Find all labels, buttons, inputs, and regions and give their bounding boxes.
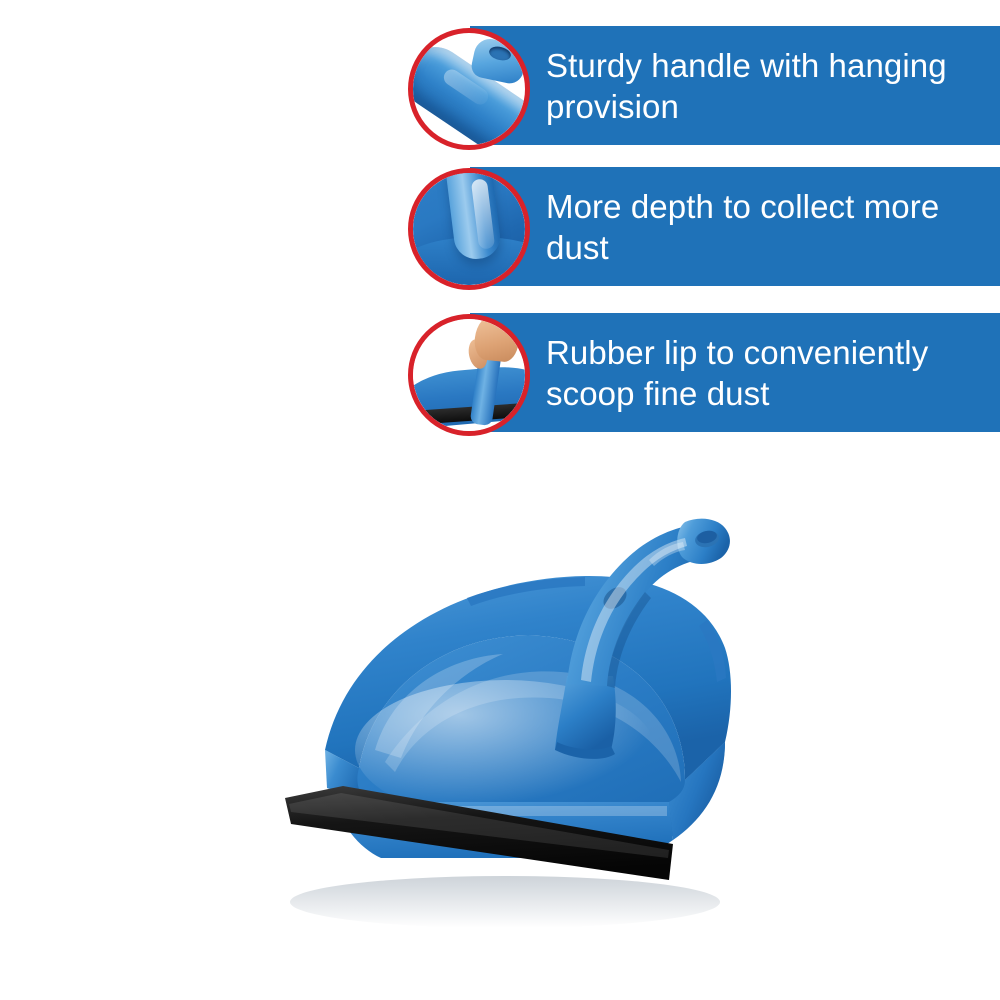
product-image-dustpan <box>255 450 785 950</box>
dustpan-illustration <box>255 450 785 950</box>
feature-label-3: Rubber lip to conveniently scoop fine du… <box>470 332 1000 414</box>
feature-badge-depth-closeup <box>408 168 530 290</box>
rubber-lip-closeup-icon <box>413 319 525 431</box>
product-feature-image: Sturdy handle with hanging provision Mor… <box>0 0 1000 1000</box>
feature-list: Sturdy handle with hanging provision Mor… <box>0 0 1000 450</box>
feature-label-1: Sturdy handle with hanging provision <box>470 45 1000 127</box>
feature-item-2: More depth to collect more dust <box>470 167 1000 286</box>
feature-item-1: Sturdy handle with hanging provision <box>470 26 1000 145</box>
handle-closeup-icon <box>413 33 525 145</box>
feature-badge-handle-closeup <box>408 28 530 150</box>
drop-shadow <box>290 876 720 928</box>
depth-closeup-icon <box>413 173 525 285</box>
feature-badge-rubber-lip-closeup <box>408 314 530 436</box>
feature-item-3: Rubber lip to conveniently scoop fine du… <box>470 313 1000 432</box>
feature-label-2: More depth to collect more dust <box>470 186 1000 268</box>
